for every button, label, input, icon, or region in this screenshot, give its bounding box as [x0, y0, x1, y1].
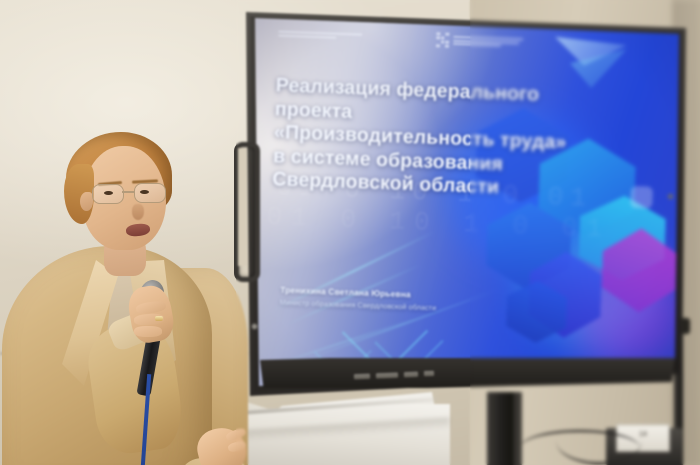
display-stand-column-edge: [513, 392, 522, 465]
presentation-display: 01 0 10 1 0 01 00 1 0 01 0 10 1 0 01 00 …: [236, 2, 688, 398]
display-port-4: [424, 371, 434, 376]
finger-ring-jewelry: [155, 316, 163, 321]
display-port-2: [376, 373, 398, 379]
display-sensor-dot: [668, 194, 673, 199]
display-chin: [258, 358, 678, 388]
finger-ring: [134, 326, 162, 337]
display-indicator-led: [252, 324, 257, 329]
speaker-figure: [0, 128, 250, 465]
nose: [132, 204, 144, 220]
display-screen: 01 0 10 1 0 01 00 1 0 01 0 10 1 0 01 00 …: [236, 2, 688, 398]
eye-left: [104, 191, 113, 195]
photo-scene: 14: [0, 0, 700, 465]
display-port-3: [404, 372, 418, 377]
eyeglasses: [92, 184, 166, 204]
display-stand-column: [487, 392, 513, 465]
glasses-bridge: [122, 191, 134, 193]
lens-right: [134, 183, 166, 203]
eye-right: [140, 190, 149, 194]
display-port-1: [354, 374, 370, 380]
equipment-cable-b: [556, 418, 642, 464]
